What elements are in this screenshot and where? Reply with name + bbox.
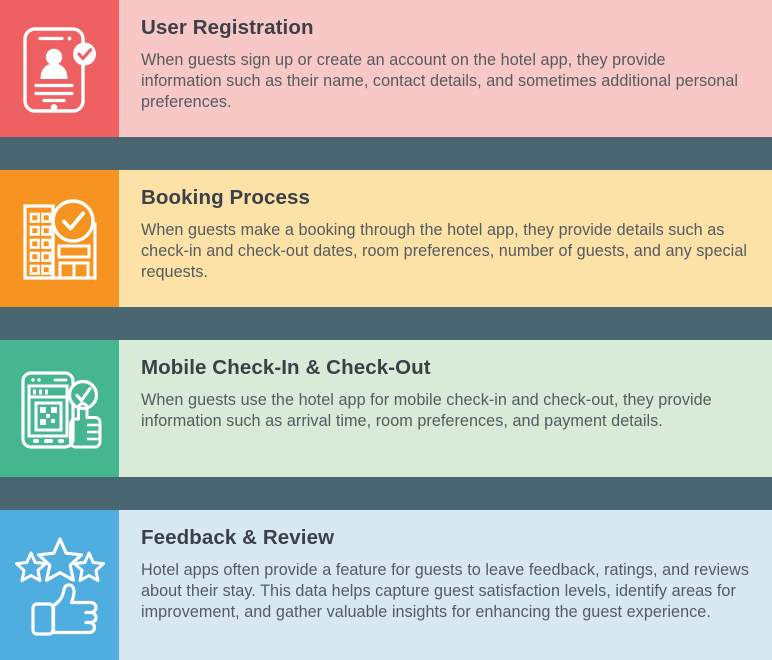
divider-band-3 (0, 477, 772, 510)
hotel-building-check-icon (13, 192, 107, 286)
row-title: Booking Process (141, 186, 750, 211)
infographic-row-user-registration: User Registration When guests sign up or… (0, 0, 772, 137)
infographic-row-feedback-review: Feedback & Review Hotel apps often provi… (0, 510, 772, 660)
stars-thumbs-up-icon (12, 533, 108, 638)
content-panel-mobile-checkin: Mobile Check-In & Check-Out When guests … (119, 340, 772, 477)
icon-panel-user-registration (0, 0, 119, 137)
row-body: When guests sign up or create an account… (141, 50, 750, 114)
infographic-row-booking-process: Booking Process When guests make a booki… (0, 170, 772, 307)
phone-user-check-icon (14, 19, 106, 119)
infographic-container: User Registration When guests sign up or… (0, 0, 772, 660)
mobile-qr-hand-check-icon (12, 361, 108, 457)
row-body: When guests make a booking through the h… (141, 220, 750, 284)
content-panel-booking-process: Booking Process When guests make a booki… (119, 170, 772, 307)
content-panel-feedback-review: Feedback & Review Hotel apps often provi… (119, 510, 772, 660)
icon-panel-booking-process (0, 170, 119, 307)
row-title: Feedback & Review (141, 526, 750, 551)
row-body: Hotel apps often provide a feature for g… (141, 560, 750, 624)
icon-panel-mobile-checkin (0, 340, 119, 477)
row-title: User Registration (141, 16, 750, 41)
infographic-row-mobile-checkin: Mobile Check-In & Check-Out When guests … (0, 340, 772, 477)
content-panel-user-registration: User Registration When guests sign up or… (119, 0, 772, 137)
row-title: Mobile Check-In & Check-Out (141, 356, 750, 381)
divider-band-1 (0, 137, 772, 170)
row-body: When guests use the hotel app for mobile… (141, 390, 750, 433)
icon-panel-feedback-review (0, 510, 119, 660)
divider-band-2 (0, 307, 772, 340)
